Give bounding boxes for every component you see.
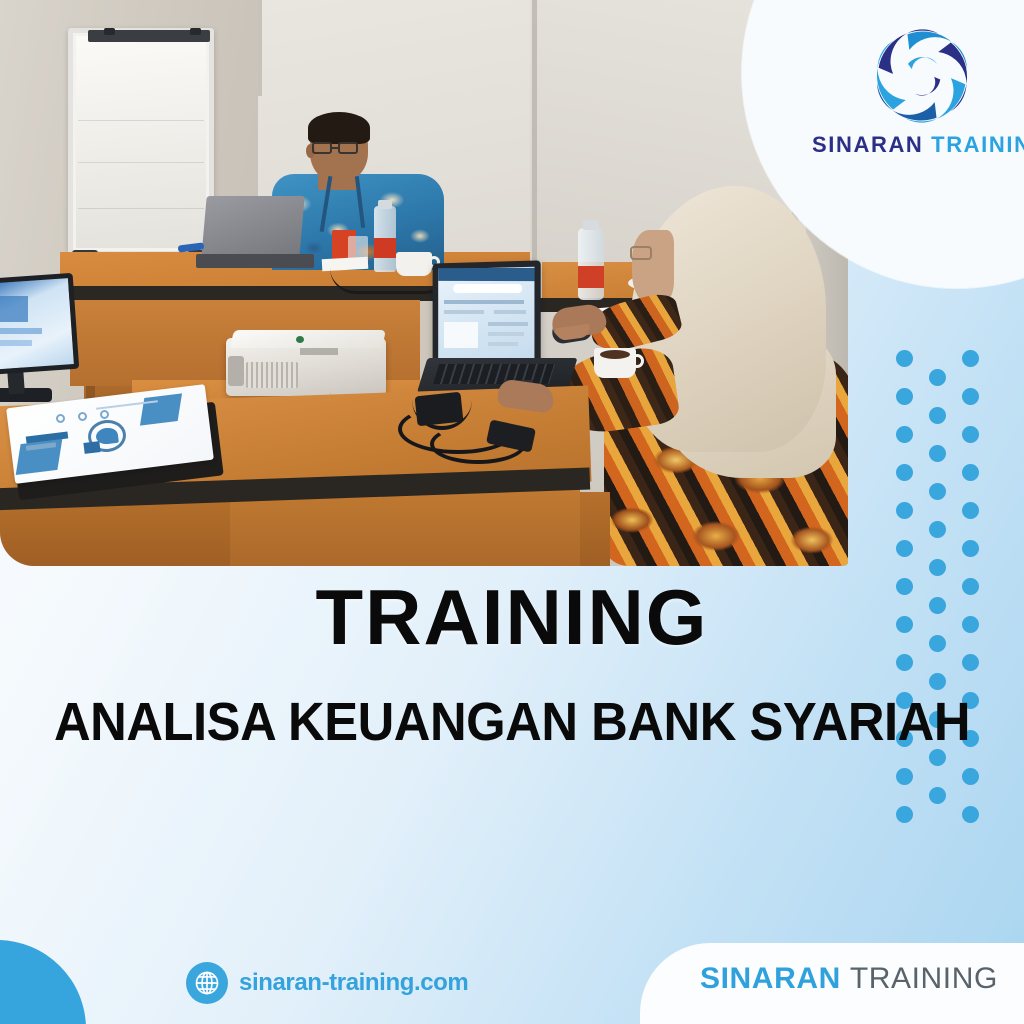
training-photo: [0, 0, 848, 566]
decorative-dot: [896, 502, 913, 519]
decorative-dot: [929, 749, 946, 766]
laptop-icon: [201, 196, 304, 258]
website-link[interactable]: sinaran-training.com: [186, 962, 468, 1004]
corner-circle-decoration: [0, 940, 86, 1024]
decorative-dot: [896, 350, 913, 367]
headline-block: TRAINING ANALISA KEUANGAN BANK SYARIAH: [0, 578, 1024, 750]
decorative-dot: [896, 426, 913, 443]
footer-brand: SINARAN TRAINING: [700, 962, 998, 996]
swirl-vortex-icon: [860, 14, 984, 138]
decorative-dot: [962, 768, 979, 785]
decorative-dot: [896, 388, 913, 405]
decorative-dot: [896, 768, 913, 785]
decorative-dot: [929, 369, 946, 386]
decorative-dot: [962, 540, 979, 557]
decorative-dot: [896, 806, 913, 823]
website-url: sinaran-training.com: [239, 969, 468, 997]
decorative-dot: [929, 445, 946, 462]
decorative-dot: [929, 407, 946, 424]
footer-brand-secondary: TRAINING: [850, 962, 998, 995]
decorative-dot: [962, 426, 979, 443]
decorative-dot: [896, 540, 913, 557]
monitor-icon: [0, 273, 79, 375]
page-subtitle: ANALISA KEUANGAN BANK SYARIAH: [31, 694, 994, 751]
poster-canvas: SINARAN TRAINING TRAINING ANALISA KEUANG…: [0, 0, 1024, 1024]
decorative-dot: [929, 483, 946, 500]
decorative-dot: [962, 502, 979, 519]
logo-wordmark: SINARAN TRAINING: [812, 132, 1024, 158]
decorative-dot: [962, 464, 979, 481]
decorative-dot: [962, 350, 979, 367]
brand-logo: SINARAN TRAINING: [812, 14, 1024, 174]
decorative-dot: [929, 559, 946, 576]
decorative-dot: [929, 787, 946, 804]
decorative-dot: [962, 388, 979, 405]
decorative-dot: [896, 464, 913, 481]
globe-icon: [186, 962, 228, 1004]
footer-brand-primary: SINARAN: [700, 962, 841, 995]
logo-word-secondary: TRAINING: [931, 132, 1024, 157]
logo-word-primary: SINARAN: [812, 132, 923, 157]
decorative-dot: [962, 806, 979, 823]
page-title: TRAINING: [0, 578, 1024, 658]
decorative-dot: [929, 521, 946, 538]
